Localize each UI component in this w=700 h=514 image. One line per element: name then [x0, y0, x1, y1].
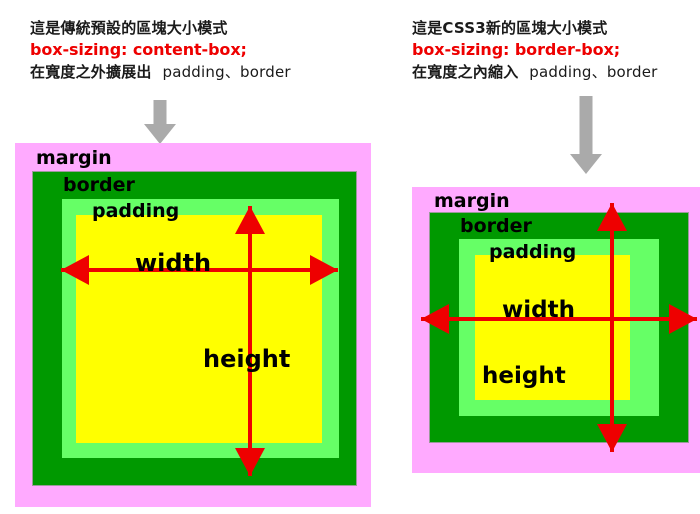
arrow-head-right	[310, 255, 338, 285]
right-caption-block: 這是CSS3新的區塊大小模式 box-sizing: border-box; 在…	[412, 18, 658, 83]
right-caption-line3: 在寬度之內縮入 padding、border	[412, 62, 658, 83]
height-measure-arrow	[235, 206, 265, 476]
height-label: height	[482, 365, 566, 388]
arrow-stem	[580, 96, 593, 156]
right-caption-line3-prefix: 在寬度之內縮入	[412, 63, 518, 81]
arrow-head-up	[597, 203, 627, 231]
margin-label: margin	[434, 192, 510, 211]
border-label: border	[63, 176, 135, 195]
grey-down-arrow-icon-right	[568, 96, 604, 174]
arrow-stem	[154, 100, 167, 126]
right-caption-line3-properties: padding、border	[529, 63, 657, 81]
arrow-head-up	[235, 206, 265, 234]
margin-label: margin	[36, 149, 112, 168]
arrow-head-down	[597, 424, 627, 452]
left-caption-line3-properties: padding、border	[162, 63, 290, 81]
right-caption-css-declaration: box-sizing: border-box;	[412, 39, 658, 62]
diagram-canvas: 這是傳統預設的區塊大小模式 box-sizing: content-box; 在…	[0, 0, 700, 514]
left-caption-css-declaration: box-sizing: content-box;	[30, 39, 291, 62]
width-label: width	[502, 299, 575, 322]
arrow-head-left	[61, 255, 89, 285]
padding-label: padding	[92, 202, 179, 221]
right-caption-line1: 這是CSS3新的區塊大小模式	[412, 18, 658, 39]
arrow-head	[144, 124, 176, 144]
arrow-head-right	[669, 304, 697, 334]
arrow-shaft	[248, 206, 252, 476]
box-model-diagram-border-box: margin border padding width height	[412, 187, 700, 473]
left-caption-line1: 這是傳統預設的區塊大小模式	[30, 18, 291, 39]
arrow-head-left	[421, 304, 449, 334]
padding-label: padding	[489, 243, 576, 262]
box-model-diagram-content-box: margin border padding width height	[15, 143, 371, 507]
left-caption-line3-prefix: 在寬度之外擴展出	[30, 63, 152, 81]
left-caption-block: 這是傳統預設的區塊大小模式 box-sizing: content-box; 在…	[30, 18, 291, 83]
border-label: border	[460, 217, 532, 236]
grey-down-arrow-icon-left	[142, 100, 178, 144]
height-label: height	[203, 347, 290, 371]
arrow-head	[570, 154, 602, 174]
arrow-head-down	[235, 448, 265, 476]
width-label: width	[135, 251, 211, 275]
left-caption-line3: 在寬度之外擴展出 padding、border	[30, 62, 291, 83]
